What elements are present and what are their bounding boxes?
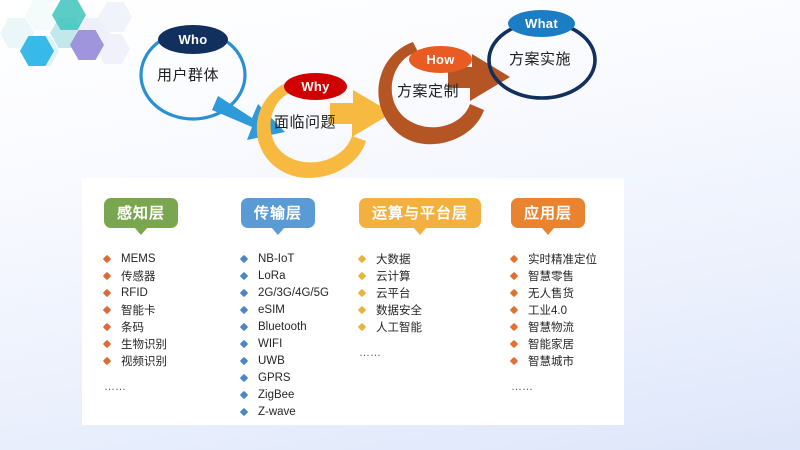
layer-item-label: 数据安全 xyxy=(376,302,422,318)
layer-item[interactable]: 条码 xyxy=(104,318,219,335)
flow-badge-how: How xyxy=(409,46,472,73)
layer-item-label: WIFI xyxy=(258,338,282,350)
flow-node-label-why: 面临问题 xyxy=(274,111,336,132)
layer-item[interactable]: RFID xyxy=(104,284,219,301)
flow-badge-what: What xyxy=(508,10,575,37)
layers-column-container: 感知层MEMS传感器RFID智能卡条码生物识别视频识别……传输层NB-IoTLo… xyxy=(82,178,624,425)
layer-item-label: Z-wave xyxy=(258,406,296,418)
layer-item-label: 2G/3G/4G/5G xyxy=(258,287,329,299)
diamond-bullet-icon xyxy=(103,322,111,330)
layer-item[interactable]: 工业4.0 xyxy=(511,301,624,318)
layer-item-label: 生物识别 xyxy=(121,336,167,352)
layer-item-list: NB-IoTLoRa2G/3G/4G/5GeSIMBluetoothWIFIUW… xyxy=(241,250,347,420)
diamond-bullet-icon xyxy=(240,407,248,415)
diamond-bullet-icon xyxy=(510,339,518,347)
layer-item-ellipsis: …… xyxy=(359,347,487,359)
layer-item[interactable]: 生物识别 xyxy=(104,335,219,352)
diamond-bullet-icon xyxy=(240,322,248,330)
layer-item[interactable]: Bluetooth xyxy=(241,318,347,335)
diamond-bullet-icon xyxy=(358,288,366,296)
diamond-bullet-icon xyxy=(358,322,366,330)
layer-item[interactable]: GPRS xyxy=(241,369,347,386)
layer-item-label: MEMS xyxy=(121,253,156,265)
diamond-bullet-icon xyxy=(510,254,518,262)
diamond-bullet-icon xyxy=(510,305,518,313)
layer-item-label: 无人售货 xyxy=(528,285,574,301)
layer-item[interactable]: 数据安全 xyxy=(359,301,487,318)
diamond-bullet-icon xyxy=(240,339,248,347)
layer-item-label: 工业4.0 xyxy=(528,302,567,318)
diamond-bullet-icon xyxy=(240,288,248,296)
layer-item[interactable]: UWB xyxy=(241,352,347,369)
layer-item-label: Bluetooth xyxy=(258,321,307,333)
layer-item-label: NB-IoT xyxy=(258,253,294,265)
layer-item[interactable]: eSIM xyxy=(241,301,347,318)
layer-column: 传输层NB-IoTLoRa2G/3G/4G/5GeSIMBluetoothWIF… xyxy=(219,178,347,425)
layer-item[interactable]: 智能卡 xyxy=(104,301,219,318)
diamond-bullet-icon xyxy=(103,356,111,364)
diamond-bullet-icon xyxy=(240,356,248,364)
layer-item[interactable]: 云计算 xyxy=(359,267,487,284)
layer-item-label: 云平台 xyxy=(376,285,411,301)
layer-column-header[interactable]: 传输层 xyxy=(241,198,315,228)
layer-column: 运算与平台层大数据云计算云平台数据安全人工智能…… xyxy=(347,178,487,425)
layer-item-list: 实时精准定位智慧零售无人售货工业4.0智慧物流智能家居智慧城市 xyxy=(511,250,624,369)
layer-item[interactable]: 无人售货 xyxy=(511,284,624,301)
layer-item-label: 智能家居 xyxy=(528,336,574,352)
layer-item[interactable]: 智能家居 xyxy=(511,335,624,352)
layer-item[interactable]: 人工智能 xyxy=(359,318,487,335)
layer-column-header[interactable]: 感知层 xyxy=(104,198,178,228)
layer-item-label: 智慧物流 xyxy=(528,319,574,335)
layer-item-label: 视频识别 xyxy=(121,353,167,369)
layer-item[interactable]: 大数据 xyxy=(359,250,487,267)
layer-item-label: UWB xyxy=(258,355,285,367)
layer-item[interactable]: ZigBee xyxy=(241,386,347,403)
layer-item[interactable]: 智慧城市 xyxy=(511,352,624,369)
diamond-bullet-icon xyxy=(358,305,366,313)
layer-item[interactable]: 2G/3G/4G/5G xyxy=(241,284,347,301)
diamond-bullet-icon xyxy=(510,271,518,279)
layer-column-header[interactable]: 应用层 xyxy=(511,198,585,228)
diamond-bullet-icon xyxy=(103,339,111,347)
layer-item[interactable]: WIFI xyxy=(241,335,347,352)
layer-item-label: 传感器 xyxy=(121,268,156,284)
layer-item-list: MEMS传感器RFID智能卡条码生物识别视频识别 xyxy=(104,250,219,369)
diamond-bullet-icon xyxy=(240,271,248,279)
layer-item-label: GPRS xyxy=(258,372,291,384)
layer-item-label: eSIM xyxy=(258,304,285,316)
layer-item[interactable]: 实时精准定位 xyxy=(511,250,624,267)
layer-item[interactable]: NB-IoT xyxy=(241,250,347,267)
layer-item-label: 条码 xyxy=(121,319,144,335)
layer-item-ellipsis: …… xyxy=(511,381,624,393)
layer-item-list: 大数据云计算云平台数据安全人工智能 xyxy=(359,250,487,335)
layer-item-ellipsis: …… xyxy=(104,381,219,393)
layer-item[interactable]: 云平台 xyxy=(359,284,487,301)
layer-column: 应用层实时精准定位智慧零售无人售货工业4.0智慧物流智能家居智慧城市…… xyxy=(487,178,624,425)
layer-item[interactable]: LoRa xyxy=(241,267,347,284)
layer-item-label: 智能卡 xyxy=(121,302,156,318)
diamond-bullet-icon xyxy=(358,271,366,279)
diamond-bullet-icon xyxy=(103,305,111,313)
flow-node-label-how: 方案定制 xyxy=(397,80,459,101)
layer-item-label: 云计算 xyxy=(376,268,411,284)
diamond-bullet-icon xyxy=(510,288,518,296)
layer-item[interactable]: 传感器 xyxy=(104,267,219,284)
flow-badge-who: Who xyxy=(158,25,228,54)
layer-item-label: 大数据 xyxy=(376,251,411,267)
layer-item[interactable]: 视频识别 xyxy=(104,352,219,369)
layer-item-label: RFID xyxy=(121,287,148,299)
layers-panel: 感知层MEMS传感器RFID智能卡条码生物识别视频识别……传输层NB-IoTLo… xyxy=(82,178,624,425)
diamond-bullet-icon xyxy=(358,254,366,262)
diamond-bullet-icon xyxy=(240,390,248,398)
diamond-bullet-icon xyxy=(240,305,248,313)
diamond-bullet-icon xyxy=(103,271,111,279)
layer-item-label: 智慧城市 xyxy=(528,353,574,369)
flow-badge-why: Why xyxy=(284,73,347,100)
diamond-bullet-icon xyxy=(510,322,518,330)
layer-column-header[interactable]: 运算与平台层 xyxy=(359,198,481,228)
diamond-bullet-icon xyxy=(103,288,111,296)
layer-item-label: 人工智能 xyxy=(376,319,422,335)
layer-item[interactable]: Z-wave xyxy=(241,403,347,420)
diamond-bullet-icon xyxy=(240,254,248,262)
layer-item[interactable]: 智慧零售 xyxy=(511,267,624,284)
layer-item-label: 智慧零售 xyxy=(528,268,574,284)
diamond-bullet-icon xyxy=(103,254,111,262)
flow-node-label-who: 用户群体 xyxy=(157,64,219,85)
layer-item-label: ZigBee xyxy=(258,389,294,401)
diamond-bullet-icon xyxy=(240,373,248,381)
layer-item-label: 实时精准定位 xyxy=(528,251,597,267)
layer-item[interactable]: 智慧物流 xyxy=(511,318,624,335)
layer-item-label: LoRa xyxy=(258,270,286,282)
slide-canvas: 用户群体 面临问题 方案定制 方案实施 Who Why How What 感知层… xyxy=(0,0,800,450)
diamond-bullet-icon xyxy=(510,356,518,364)
layer-item[interactable]: MEMS xyxy=(104,250,219,267)
flow-node-label-what: 方案实施 xyxy=(509,48,571,69)
layer-column: 感知层MEMS传感器RFID智能卡条码生物识别视频识别…… xyxy=(82,178,219,425)
